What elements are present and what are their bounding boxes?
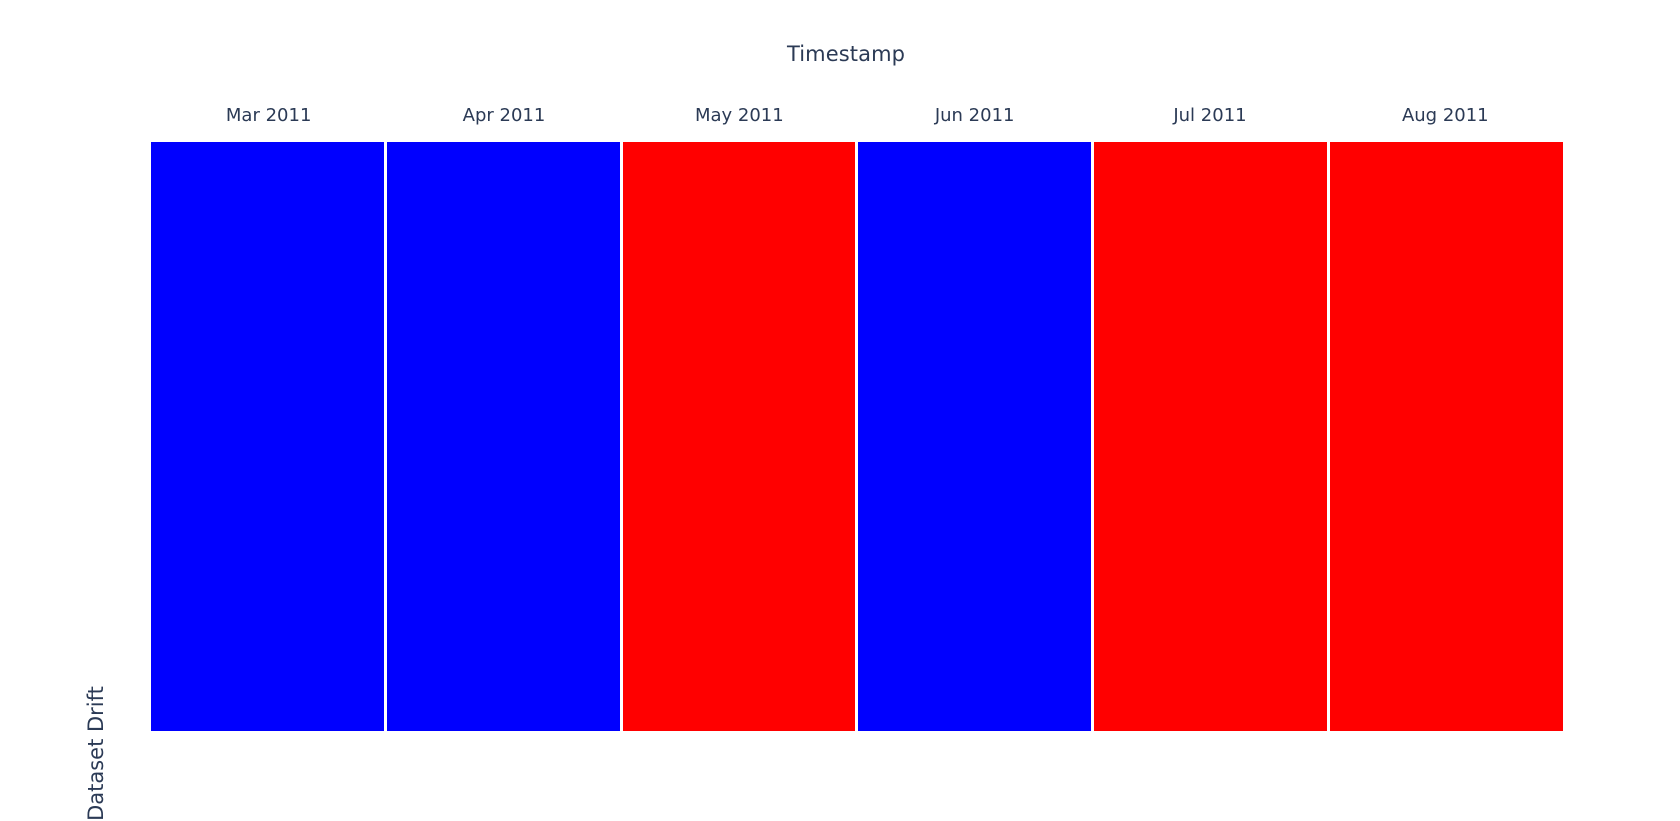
bar-fill xyxy=(387,142,620,731)
x-tick-label-aug-2011: Aug 2011 xyxy=(1328,103,1563,129)
bar-mar-2011[interactable] xyxy=(151,142,387,731)
bar-fill xyxy=(623,142,856,731)
bar-jul-2011[interactable] xyxy=(1094,142,1330,731)
y-axis-label: Dataset Drift xyxy=(76,0,116,793)
dataset-drift-chart: Timestamp Dataset Drift Mar 2011 Apr 201… xyxy=(0,0,1680,793)
chart-title-text: Timestamp xyxy=(787,42,905,66)
x-tick-label-may-2011: May 2011 xyxy=(622,103,857,129)
bar-aug-2011[interactable] xyxy=(1330,142,1563,731)
x-tick-label-jun-2011: Jun 2011 xyxy=(857,103,1092,129)
x-tick-label-jul-2011: Jul 2011 xyxy=(1092,103,1327,129)
bar-may-2011[interactable] xyxy=(623,142,859,731)
bar-jun-2011[interactable] xyxy=(858,142,1094,731)
bar-apr-2011[interactable] xyxy=(387,142,623,731)
x-tick-label-apr-2011: Apr 2011 xyxy=(386,103,621,129)
x-tick-label-mar-2011: Mar 2011 xyxy=(151,103,386,129)
bar-fill xyxy=(1330,142,1563,731)
y-axis-label-text: Dataset Drift xyxy=(84,686,108,821)
bar-series xyxy=(151,142,1563,731)
chart-title: Timestamp xyxy=(0,42,1680,66)
bar-fill xyxy=(1094,142,1327,731)
plot-area xyxy=(151,142,1563,731)
bar-fill xyxy=(151,142,384,731)
x-axis-tick-labels: Mar 2011 Apr 2011 May 2011 Jun 2011 Jul … xyxy=(151,103,1563,129)
bar-fill xyxy=(858,142,1091,731)
